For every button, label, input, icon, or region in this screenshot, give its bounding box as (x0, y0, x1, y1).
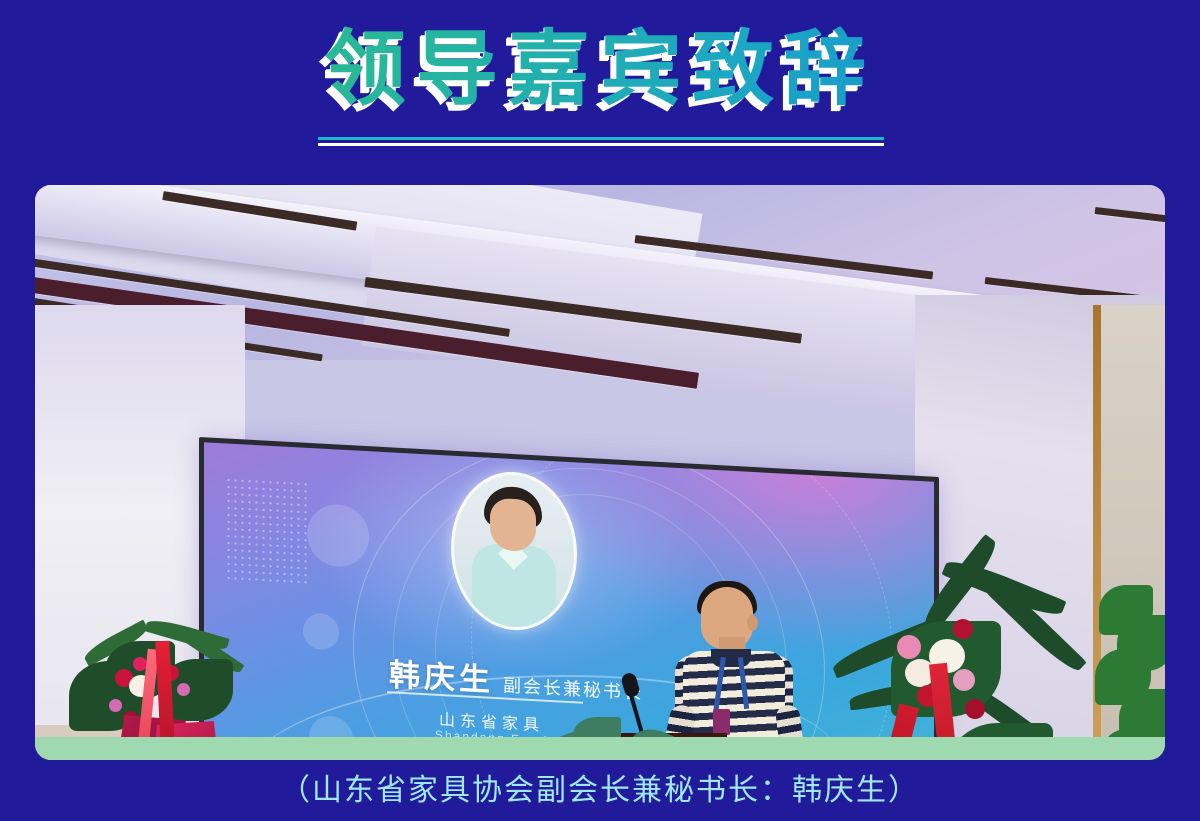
title-block: 领导嘉宾致辞 (0, 0, 1200, 170)
flower-pink (953, 669, 975, 691)
flower-red (953, 619, 973, 639)
flower (109, 699, 122, 712)
led-bubble (303, 613, 339, 651)
photo-caption: （山东省家具协会副会长兼秘书长：韩庆生） (0, 765, 1200, 809)
event-photo: 韩庆生 副会长兼秘书长 山东省家具 Shandong Furniture (35, 185, 1165, 760)
page-title: 领导嘉宾致辞 (0, 24, 1200, 116)
flower-red (965, 699, 985, 719)
portrait-face (490, 498, 536, 552)
photo-bottom-bar (35, 737, 1165, 760)
divider-line-top (318, 137, 884, 140)
speaker-collar (711, 649, 751, 667)
speaker-ear (747, 615, 758, 631)
led-dot-grid (225, 476, 309, 585)
flower-pink (897, 635, 921, 659)
led-bubble (307, 503, 369, 568)
divider-line-bottom (318, 143, 884, 146)
ceiling-slat (1095, 207, 1165, 228)
flower (177, 683, 190, 696)
speaker-badge (713, 709, 730, 735)
potted-plant-right (1095, 585, 1165, 760)
